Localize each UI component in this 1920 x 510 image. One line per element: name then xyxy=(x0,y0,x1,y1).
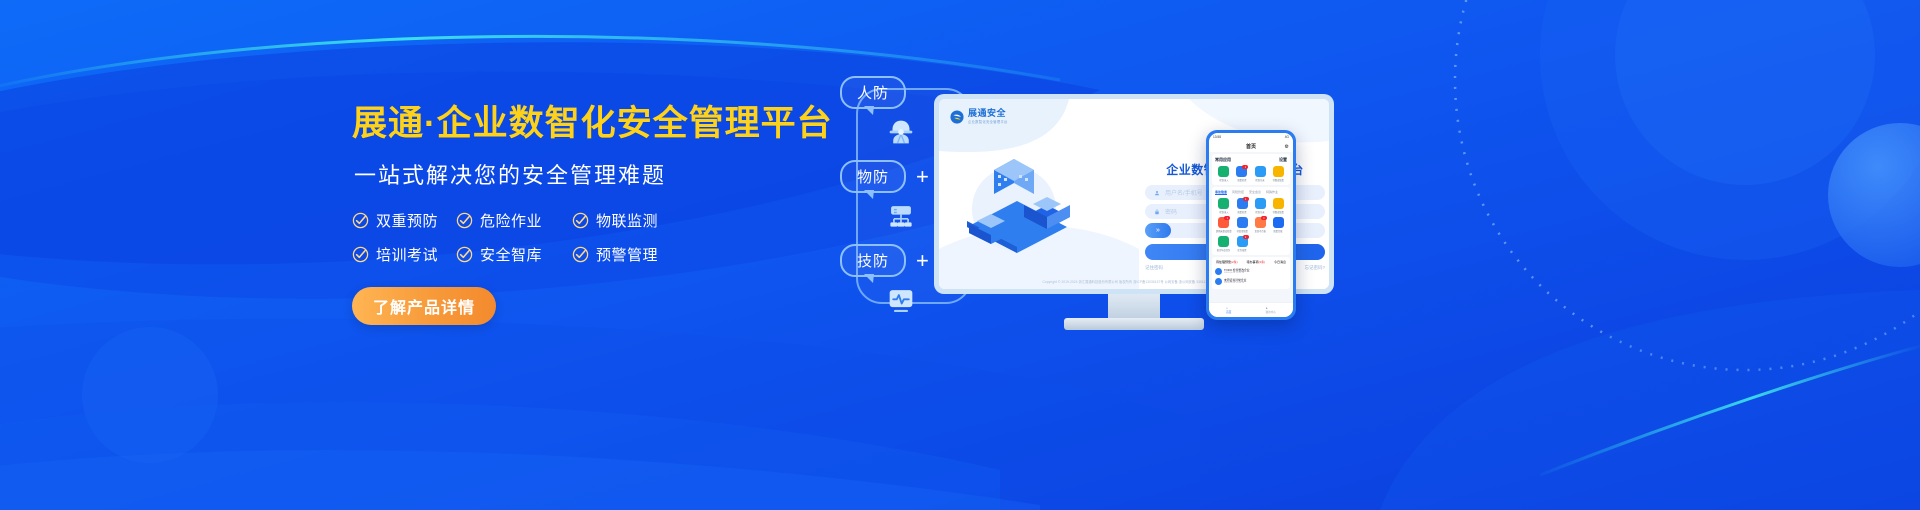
plus-icon: + xyxy=(916,166,929,188)
item-time: 2024-05-28 11:42:16 xyxy=(1224,272,1250,274)
tag-renfang[interactable]: 人防 xyxy=(840,76,906,109)
record-icon xyxy=(1255,166,1266,177)
feature-label: 双重预防 xyxy=(376,210,438,231)
bottom-nav-profile[interactable]: ♟ 我的中心 xyxy=(1266,307,1276,314)
gear-icon[interactable]: ⚙ xyxy=(1285,144,1289,150)
page-title: 展通·企业数智化安全管理平台 xyxy=(352,104,822,144)
edit-icon xyxy=(1218,166,1229,177)
monitor-stand-neck xyxy=(1108,294,1160,318)
user-icon xyxy=(1154,190,1160,196)
alerts-count: (2条) xyxy=(1231,260,1238,264)
slider-handle[interactable]: » xyxy=(1145,223,1171,238)
username-placeholder: 用户名/手机号 xyxy=(1165,188,1203,197)
tag-wufang[interactable]: 物防 xyxy=(840,160,906,193)
forgot-password-link[interactable]: 忘记密码? xyxy=(1304,265,1325,271)
feature-item: 安全智库 xyxy=(456,244,572,265)
app-item[interactable]: 1 隐患处置 xyxy=(1234,198,1251,214)
feature-label: 物联监测 xyxy=(596,210,658,231)
app-item[interactable]: 检查录入 xyxy=(1215,198,1233,214)
ledger-icon xyxy=(1273,217,1284,228)
tab-special-work[interactable]: 特殊作业 xyxy=(1266,190,1278,195)
status-signal: 4G xyxy=(1285,135,1289,139)
alerts-label: 待处理预警 xyxy=(1216,260,1231,264)
badge: 1 xyxy=(1242,165,1248,169)
bottom-nav-home[interactable]: ⌂ 首页 xyxy=(1226,307,1231,314)
todo-count: (2条) xyxy=(1259,260,1266,264)
list-item[interactable]: TODO 检查整改企业 2024-05-28 11:42:16 xyxy=(1215,266,1287,276)
app-label: 隐患台账 xyxy=(1274,229,1283,233)
tag-label: 技防 xyxy=(857,250,889,271)
worker-helmet-icon xyxy=(884,115,918,149)
phone-nav-title: 首页 xyxy=(1246,143,1256,150)
badge: 1 xyxy=(1243,197,1249,201)
avatar xyxy=(1215,278,1222,285)
feature-item: 培训考试 xyxy=(352,244,456,265)
check-circle-icon xyxy=(456,246,473,263)
phone-screen: 13:58 4G 首页 ⚙ 常用应用 设置 检查录入 xyxy=(1209,133,1293,317)
todo-label: 待办事项 xyxy=(1246,260,1258,264)
app-item[interactable]: 待整改隐患 xyxy=(1270,198,1287,214)
app-logo: 展通安全 企业数智化安全管理平台 xyxy=(950,109,1008,124)
mobile-phone: 13:58 4G 首页 ⚙ 常用应用 设置 检查录入 xyxy=(1206,130,1296,320)
settings-link[interactable]: 设置 xyxy=(1279,157,1287,163)
overdue-icon: 1 xyxy=(1218,217,1229,228)
check-circle-icon xyxy=(456,212,473,229)
app-label: 检查记录 xyxy=(1256,210,1265,214)
hazard-icon: 1 xyxy=(1237,198,1248,209)
feature-item: 危险作业 xyxy=(456,210,572,231)
app-label: 检查记录 xyxy=(1256,178,1265,182)
tag-label: 人防 xyxy=(857,82,889,103)
bottom-nav-label: 首页 xyxy=(1226,310,1231,314)
phone-status-bar: 13:58 4G xyxy=(1209,133,1293,141)
alerts-tab-todo[interactable]: 待办事项(2条) xyxy=(1246,260,1265,264)
tag-jifang[interactable]: 技防 xyxy=(840,244,906,277)
app-label: 隐患处置 xyxy=(1238,210,1247,214)
annual-task-icon xyxy=(1218,236,1229,247)
tab-hazard[interactable]: 事故隐患 xyxy=(1215,190,1227,195)
feature-item: 双重预防 xyxy=(352,210,456,231)
feature-label: 危险作业 xyxy=(480,210,542,231)
plus-icon: + xyxy=(916,250,929,272)
item-time: 2024-05-28 11:40:15 xyxy=(1224,282,1246,284)
hazard-apps-grid: 检查录入 1 隐患处置 检查记录 xyxy=(1215,198,1287,252)
hero-subtitle: 一站式解决您的安全管理难题 xyxy=(354,158,822,190)
hazard-icon: 1 xyxy=(1236,166,1247,177)
edit-icon xyxy=(1218,198,1229,209)
app-item[interactable]: 1 隐患处置 xyxy=(1233,166,1250,182)
fail-icon: 4 xyxy=(1255,217,1266,228)
monitor-stand-base xyxy=(1064,318,1204,330)
check-circle-icon xyxy=(352,246,369,263)
hero-copy: 展通·企业数智化安全管理平台 一站式解决您的安全管理难题 双重预防 危险作业 xyxy=(352,104,822,325)
remember-password-checkbox[interactable]: 记住密码 xyxy=(1145,265,1163,271)
bottom-nav-label: 我的中心 xyxy=(1266,310,1276,314)
feature-item: 预警管理 xyxy=(572,244,692,265)
monitor-pulse-icon xyxy=(884,283,918,317)
warning-icon xyxy=(1273,166,1284,177)
badge: 4 xyxy=(1261,216,1267,220)
tag-label: 物防 xyxy=(857,166,889,187)
avatar xyxy=(1215,268,1222,275)
task-icon: 2 xyxy=(1237,236,1248,247)
lock-icon xyxy=(1154,209,1160,215)
alerts-tab-pending[interactable]: 待处理预警(2条) xyxy=(1216,260,1238,264)
hazard-tabs: 事故隐患 风险管控 安全会议 特殊作业 xyxy=(1215,190,1287,195)
password-placeholder: 密码 xyxy=(1165,207,1177,216)
app-label: 检查录入 xyxy=(1219,178,1228,182)
check-circle-icon xyxy=(572,246,589,263)
app-label: 复查不合格 xyxy=(1255,229,1266,233)
phone-nav-bar: 首页 ⚙ xyxy=(1209,141,1293,152)
app-label: 待复查隐患 xyxy=(1236,229,1247,233)
feature-label: 培训考试 xyxy=(376,244,438,265)
app-label: 超期未整改隐患 xyxy=(1216,229,1232,233)
feature-item: 物联监测 xyxy=(572,210,692,231)
check-circle-icon xyxy=(352,212,369,229)
common-apps-title: 常用应用 设置 xyxy=(1215,157,1287,163)
recheck-icon xyxy=(1237,217,1248,228)
tab-meeting[interactable]: 安全会议 xyxy=(1249,190,1261,195)
app-item[interactable]: 隐患台账 xyxy=(1270,217,1287,233)
section-label: 常用应用 xyxy=(1215,157,1231,163)
phone-bottom-nav: ⌂ 首页 ♟ 我的中心 xyxy=(1209,302,1293,317)
logo-text: 展通安全 xyxy=(968,109,1008,118)
app-label: 待整改隐患 xyxy=(1273,178,1284,182)
app-item[interactable]: 指定年度任务 xyxy=(1215,236,1233,252)
record-icon xyxy=(1255,198,1266,209)
warning-icon xyxy=(1273,198,1284,209)
app-label: 指定年度任务 xyxy=(1217,248,1231,252)
app-label: 待整改隐患 xyxy=(1273,210,1284,214)
app-item[interactable]: 检查记录 xyxy=(1252,198,1269,214)
app-item[interactable]: 检查录入 xyxy=(1215,166,1232,182)
check-circle-icon xyxy=(572,212,589,229)
app-item[interactable]: 待复查隐患 xyxy=(1234,217,1251,233)
alerts-tab-messages[interactable]: 今日消息 xyxy=(1274,260,1286,264)
learn-more-button[interactable]: 了解产品详情 xyxy=(352,287,496,325)
shield-eagle-icon xyxy=(950,110,964,124)
app-item[interactable]: 2 任务指置 xyxy=(1234,236,1251,252)
feature-label: 预警管理 xyxy=(596,244,658,265)
common-apps-card: 常用应用 设置 检查录入 1 隐患处置 xyxy=(1212,154,1290,185)
logo-subtext: 企业数智化安全管理平台 xyxy=(968,119,1008,124)
common-apps-grid: 检查录入 1 隐患处置 检查记录 xyxy=(1215,166,1287,182)
app-item[interactable]: 4 复查不合格 xyxy=(1252,217,1269,233)
network-device-icon xyxy=(884,199,918,233)
status-time: 13:58 xyxy=(1213,135,1221,139)
app-item[interactable]: 待整改隐患 xyxy=(1270,166,1287,182)
app-label: 任务指置 xyxy=(1238,248,1247,252)
app-label: 隐患处置 xyxy=(1237,178,1246,182)
hazard-apps-card: 事故隐患 风险管控 安全会议 特殊作业 检查录入 1 xyxy=(1212,187,1290,255)
feature-label: 安全智库 xyxy=(480,244,542,265)
app-item[interactable]: 1 超期未整改隐患 xyxy=(1215,217,1233,233)
list-item[interactable]: 未周证书异常企业 2024-05-28 11:40:15 xyxy=(1215,276,1287,286)
badge: 2 xyxy=(1243,235,1249,239)
hero-banner: 展通·企业数智化安全管理平台 一站式解决您的安全管理难题 双重预防 危险作业 xyxy=(0,0,1920,510)
alerts-card: 待处理预警(2条) 待办事项(2条) 今日消息 TODO 检查整改企业 2024… xyxy=(1212,257,1290,289)
feature-list: 双重预防 危险作业 物联监测 xyxy=(352,210,822,265)
app-item[interactable]: 检查记录 xyxy=(1252,166,1269,182)
tab-risk[interactable]: 风险管控 xyxy=(1232,190,1244,195)
app-label: 检查录入 xyxy=(1219,210,1228,214)
badge: 1 xyxy=(1224,216,1230,220)
product-mockup: 人防 物防 + xyxy=(840,0,1920,510)
